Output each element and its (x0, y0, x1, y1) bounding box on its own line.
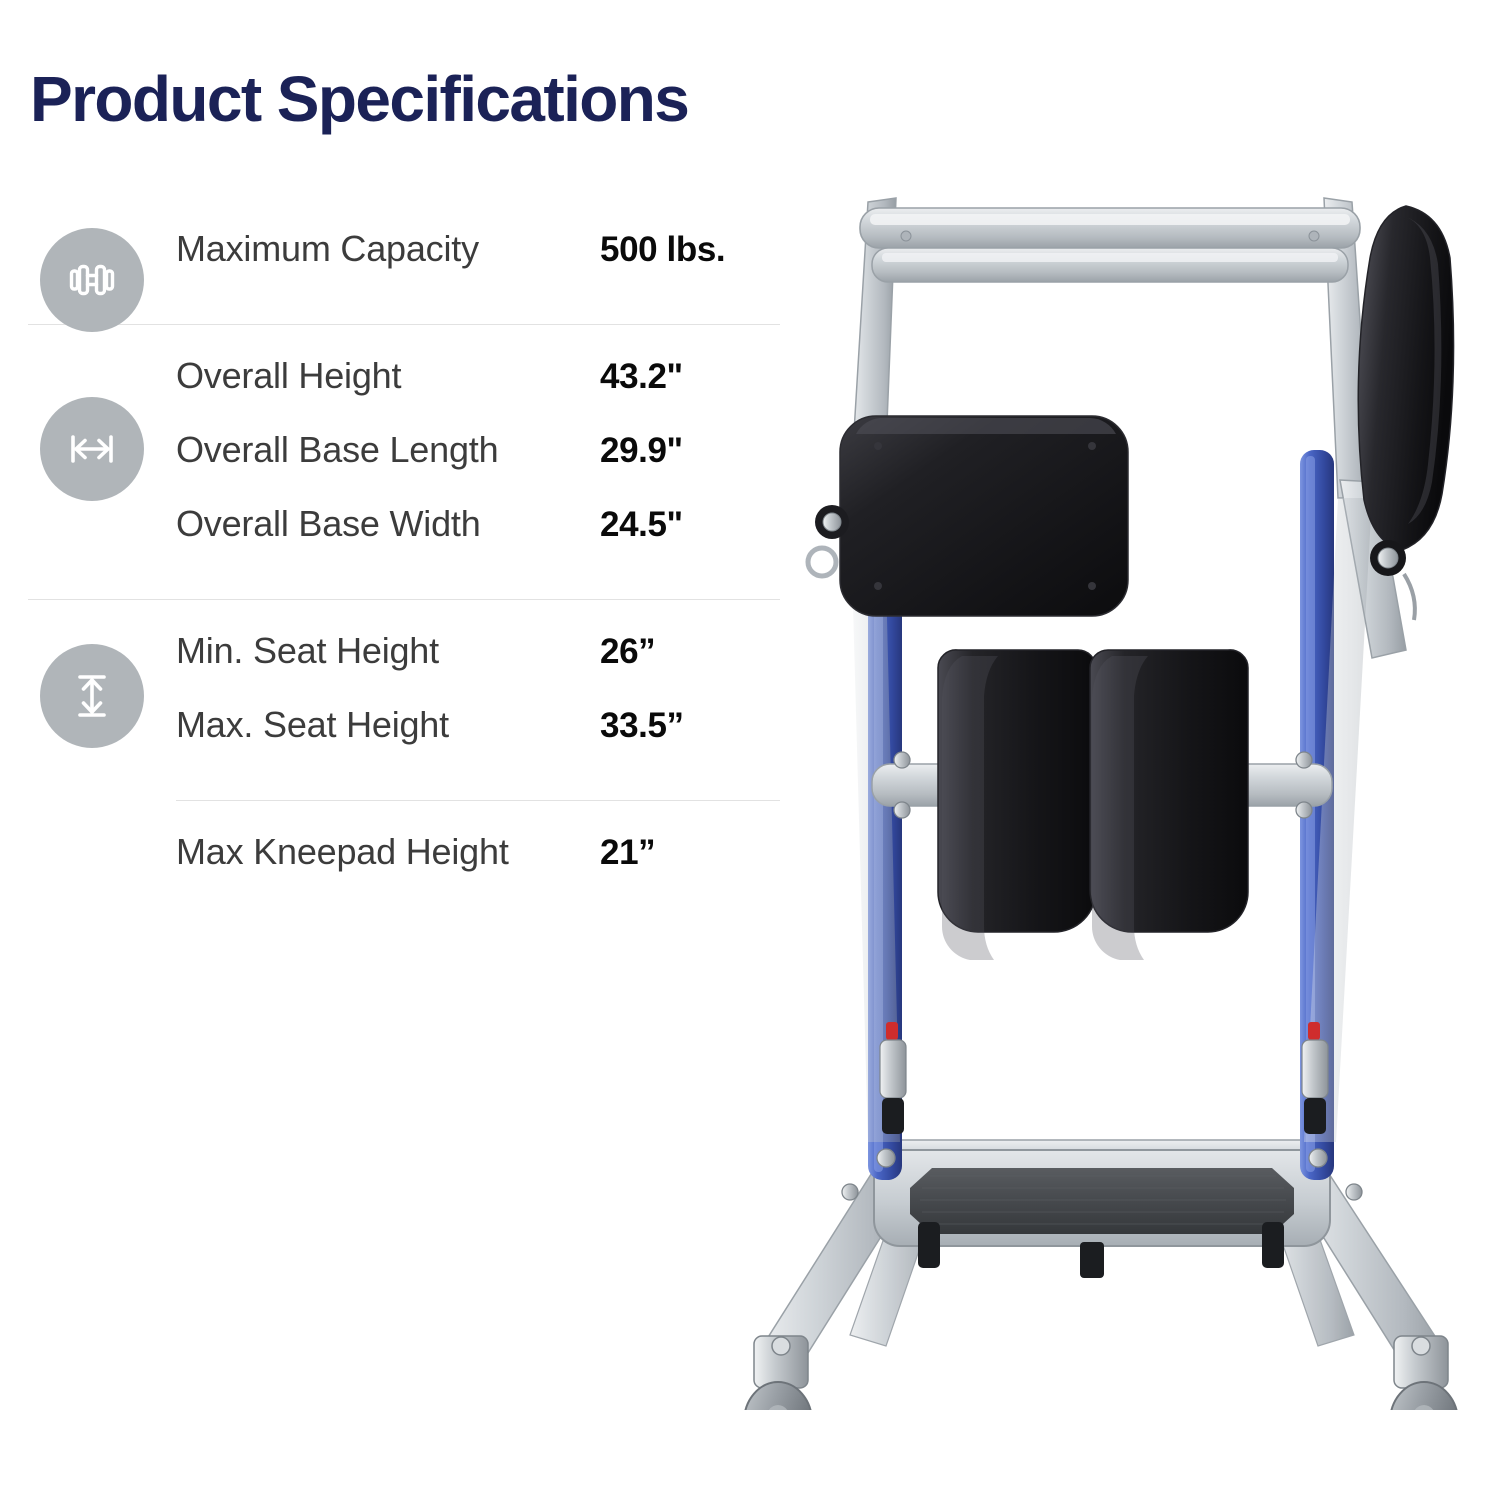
spacer (0, 325, 800, 355)
spacer (0, 600, 800, 630)
spec-group-seat-heights: Min. Seat Height 26” Max. Seat Height 33… (0, 630, 800, 778)
seat-pad-right-folded (1358, 206, 1453, 620)
handle-bar-lower (872, 248, 1348, 282)
spec-label: Overall Base Length (176, 429, 600, 471)
spec-value: 24.5" (600, 505, 683, 545)
spacer (0, 778, 800, 800)
seat-pad-left (808, 416, 1128, 616)
spec-label: Max. Seat Height (176, 704, 600, 746)
spec-group-overall-dimensions: Overall Height 43.2" Overall Base Length… (0, 355, 800, 577)
spec-label: Overall Base Width (176, 503, 600, 545)
spacer (0, 801, 800, 831)
spacer (0, 577, 800, 599)
knee-pad-left (938, 650, 1096, 960)
spec-value: 33.5” (600, 706, 684, 746)
spec-label: Maximum Capacity (176, 228, 600, 270)
spec-group-kneepad: Max Kneepad Height 21” (0, 831, 800, 905)
spec-value: 21” (600, 833, 655, 873)
horizontal-arrow-icon (40, 397, 144, 501)
spec-group-capacity: Maximum Capacity 500 lbs. (0, 228, 800, 302)
spec-label: Max Kneepad Height (176, 831, 600, 873)
base-footplate (874, 1150, 1330, 1278)
spec-label: Min. Seat Height (176, 630, 600, 672)
knee-pad-right (1090, 650, 1248, 960)
vertical-arrow-icon (40, 644, 144, 748)
product-specifications-page: Product Specifications M (0, 0, 1500, 1500)
caster-front-left (744, 1336, 812, 1410)
spec-value: 26” (600, 632, 655, 672)
release-levers (880, 1022, 1328, 1134)
handle-bar-upper (860, 208, 1360, 248)
spec-value: 43.2" (600, 357, 683, 397)
caster-front-right (1390, 1336, 1458, 1410)
page-title: Product Specifications (30, 62, 688, 136)
spec-value: 29.9" (600, 431, 683, 471)
dumbbell-icon (40, 228, 144, 332)
product-image-sit-to-stand-lift (700, 150, 1500, 1410)
spec-label: Overall Height (176, 355, 600, 397)
specifications-list: Maximum Capacity 500 lbs. (0, 228, 800, 905)
